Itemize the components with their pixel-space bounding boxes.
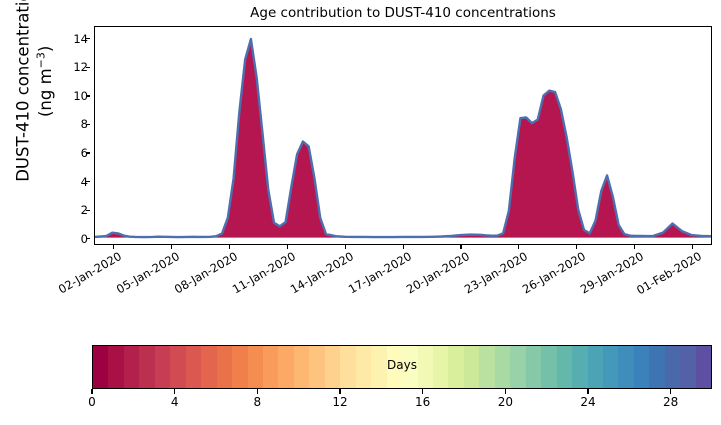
y-tick-label: 12	[58, 60, 88, 74]
y-tick-label: 8	[58, 117, 88, 131]
colorbar-swatch	[464, 346, 479, 388]
y-tick-label: 14	[58, 32, 88, 46]
colorbar-swatch	[479, 346, 494, 388]
area-plot	[95, 27, 711, 244]
colorbar-swatch	[170, 346, 185, 388]
chart-title: Age contribution to DUST-410 concentrati…	[94, 5, 712, 21]
y-tick-label: 10	[58, 89, 88, 103]
y-tick-mark	[86, 67, 90, 68]
colorbar-swatch	[588, 346, 603, 388]
colorbar-tick-mark	[505, 389, 506, 394]
y-tick-mark	[86, 95, 90, 96]
colorbar-swatch	[139, 346, 154, 388]
colorbar-tick-label: 24	[580, 395, 595, 409]
y-tick-mark	[86, 38, 90, 39]
colorbar-swatch	[680, 346, 695, 388]
colorbar-swatch	[448, 346, 463, 388]
colorbar-swatch	[325, 346, 340, 388]
y-tick-mark	[86, 152, 90, 153]
colorbar-tick-label: 8	[254, 395, 262, 409]
colorbar-tick-mark	[174, 389, 175, 394]
colorbar-tick-label: 20	[498, 395, 513, 409]
colorbar-swatch	[155, 346, 170, 388]
colorbar-tick-mark	[587, 389, 588, 394]
colorbar-tick-label: 16	[415, 395, 430, 409]
colorbar-swatch	[696, 346, 711, 388]
colorbar-swatch	[340, 346, 355, 388]
colorbar-swatch	[603, 346, 618, 388]
colorbar-swatch	[356, 346, 371, 388]
y-axis-tick-labels: 02468101214	[52, 26, 88, 245]
colorbar-swatch	[108, 346, 123, 388]
x-axis-tick-labels: 02-Jan-202005-Jan-202008-Jan-202011-Jan-…	[94, 249, 712, 319]
y-tick-label: 2	[58, 203, 88, 217]
y-tick-mark	[86, 238, 90, 239]
colorbar-swatch	[572, 346, 587, 388]
colorbar-tick-mark	[670, 389, 671, 394]
colorbar-swatch	[278, 346, 293, 388]
y-tick-label: 6	[58, 146, 88, 160]
y-tick-label: 4	[58, 175, 88, 189]
colorbar-swatch	[248, 346, 263, 388]
plot-area[interactable]	[94, 26, 712, 245]
colorbar-gradient	[93, 346, 711, 388]
y-tick-label: 0	[58, 232, 88, 246]
colorbar-swatch	[186, 346, 201, 388]
colorbar-swatch	[93, 346, 108, 388]
y-tick-mark	[86, 181, 90, 182]
colorbar-tick-mark	[339, 389, 340, 394]
colorbar-swatch	[371, 346, 386, 388]
colorbar-tick-label: 28	[663, 395, 678, 409]
colorbar-swatch	[201, 346, 216, 388]
colorbar-swatch	[418, 346, 433, 388]
y-axis-tick-marks	[86, 26, 94, 245]
area-outline	[95, 39, 711, 237]
y-axis-label: DUST-410 concentration (ng m−3)	[14, 0, 57, 206]
colorbar-swatch	[402, 346, 417, 388]
colorbar-tick-label: 12	[332, 395, 347, 409]
colorbar-swatch	[634, 346, 649, 388]
colorbar-swatch	[526, 346, 541, 388]
colorbar-swatch	[557, 346, 572, 388]
colorbar-tick-label: 0	[88, 395, 96, 409]
y-axis-label-exponent: −3	[34, 52, 47, 68]
colorbar-swatch	[387, 346, 402, 388]
colorbar-swatch	[495, 346, 510, 388]
colorbar-tick-mark	[257, 389, 258, 394]
y-tick-mark	[86, 124, 90, 125]
colorbar-swatch	[263, 346, 278, 388]
y-axis-label-line1: DUST-410 concentration	[14, 0, 33, 182]
colorbar-swatch	[433, 346, 448, 388]
colorbar-swatch	[232, 346, 247, 388]
colorbar[interactable]	[92, 345, 712, 389]
colorbar-swatch	[541, 346, 556, 388]
colorbar-tick-mark	[422, 389, 423, 394]
colorbar-swatch	[618, 346, 633, 388]
colorbar-tick-mark	[91, 389, 92, 394]
colorbar-swatch	[665, 346, 680, 388]
area-fill	[95, 39, 711, 238]
figure-canvas: Age contribution to DUST-410 concentrati…	[0, 0, 721, 425]
colorbar-swatch	[649, 346, 664, 388]
colorbar-swatch	[510, 346, 525, 388]
colorbar-swatch	[294, 346, 309, 388]
colorbar-tick-label: 4	[171, 395, 179, 409]
y-tick-mark	[86, 210, 90, 211]
colorbar-tick-labels: 0481216202428	[92, 395, 712, 417]
colorbar-swatch	[124, 346, 139, 388]
colorbar-swatch	[309, 346, 324, 388]
colorbar-swatch	[217, 346, 232, 388]
